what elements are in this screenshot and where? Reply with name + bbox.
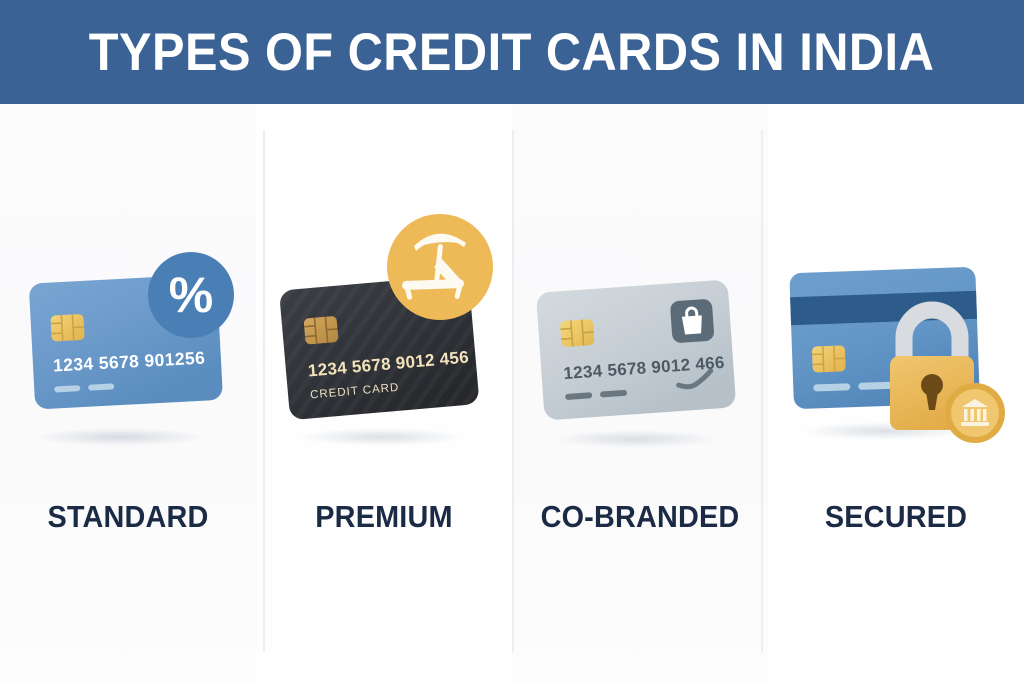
card-dash-1 <box>813 383 850 391</box>
secured-card-illustration <box>768 104 1024 504</box>
column-divider-1 <box>263 130 265 652</box>
chip-icon <box>560 319 595 347</box>
card-dash-2 <box>858 382 895 390</box>
column-secured: SECURED <box>768 104 1024 683</box>
infographic-root: TYPES OF CREDIT CARDS IN INDIA <box>0 0 1024 683</box>
column-premium: 1234 5678 9012 456 CREDIT CARD <box>256 104 512 683</box>
svg-text:%: % <box>169 267 213 323</box>
standard-card-illustration: 1234 5678 901256 % <box>0 104 256 504</box>
chip-icon <box>812 345 846 372</box>
premium-card-illustration: 1234 5678 9012 456 CREDIT CARD <box>256 104 512 504</box>
co-branded-card-shadow <box>552 430 720 448</box>
card-type-label-standard: STANDARD <box>9 499 247 535</box>
shopping-bag-icon <box>670 299 715 344</box>
card-type-label-co-branded: CO-BRANDED <box>521 499 759 535</box>
card-type-label-secured: SECURED <box>777 499 1015 535</box>
beach-lounger-icon <box>387 214 493 320</box>
standard-card-shadow <box>34 428 206 446</box>
percent-icon: % <box>148 252 234 338</box>
chip-icon <box>50 314 84 342</box>
column-standard: 1234 5678 901256 % STANDARD <box>0 104 256 683</box>
column-divider-2 <box>512 130 514 652</box>
co-branded-card-illustration: 1234 5678 9012 466 <box>512 104 768 504</box>
premium-card-shadow <box>298 428 466 446</box>
column-divider-3 <box>761 130 763 652</box>
page-title: TYPES OF CREDIT CARDS IN INDIA <box>89 26 934 79</box>
bank-coin-icon <box>945 383 1005 443</box>
card-type-label-premium: PREMIUM <box>265 499 503 535</box>
chip-icon <box>304 316 339 345</box>
header-banner: TYPES OF CREDIT CARDS IN INDIA <box>0 0 1024 104</box>
column-co-branded: 1234 5678 9012 466 CO-BRANDED <box>512 104 768 683</box>
